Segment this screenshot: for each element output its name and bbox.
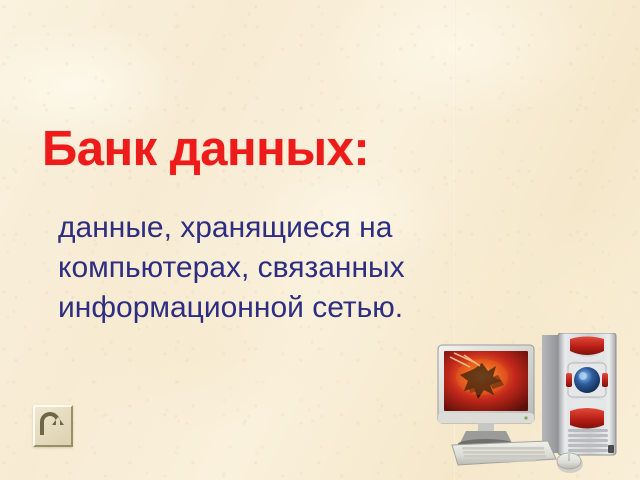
tower-case: [542, 333, 616, 455]
desktop-computer-image: [430, 333, 635, 480]
slide-title: Банк данных:: [42, 124, 562, 175]
body-line-1: данные, хранящиеся на: [58, 208, 478, 248]
body-line-3: информационной сетью.: [58, 288, 478, 328]
body-line-2: компьютерах, связанных: [58, 248, 478, 288]
slide-body-text: данные, хранящиеся на компьютерах, связа…: [58, 208, 478, 328]
keyboard: [452, 441, 556, 465]
return-button[interactable]: [33, 405, 73, 447]
lcd-monitor: [438, 345, 534, 449]
mouse: [557, 453, 583, 473]
u-turn-arrow-icon: [40, 412, 66, 440]
slide-canvas: Банк данных: данные, хранящиеся на компь…: [0, 0, 640, 480]
tower-window: [574, 367, 600, 393]
